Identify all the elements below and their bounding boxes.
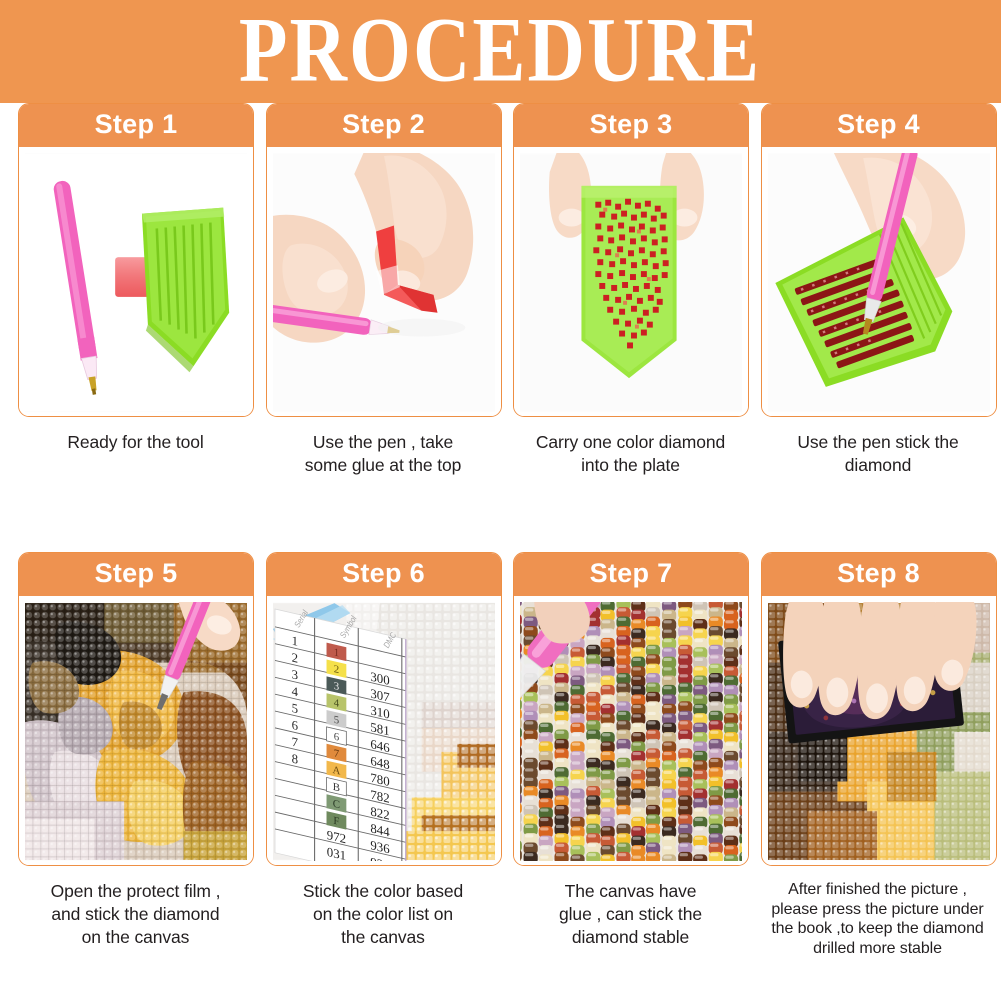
svg-text:6: 6 xyxy=(291,717,298,733)
svg-text:B: B xyxy=(332,781,339,795)
step-header-2: Step 2 xyxy=(267,104,501,147)
step-caption-7: The canvas have glue , can stick the dia… xyxy=(507,880,754,949)
step-body-8 xyxy=(762,596,996,866)
svg-text:7: 7 xyxy=(291,734,298,750)
step-badge-6: Step 6 xyxy=(342,558,425,589)
svg-text:1: 1 xyxy=(291,633,297,649)
photo-tray-with-red-diamonds xyxy=(520,153,742,412)
caption-line: please press the picture under xyxy=(752,900,1001,920)
caption-line: diamond stable xyxy=(507,926,754,949)
step-card-4[interactable]: Step 4 xyxy=(761,103,997,417)
svg-text:4: 4 xyxy=(333,697,339,710)
caption-line: Carry one color diamond xyxy=(507,431,754,454)
caption-line: the book ,to keep the diamond xyxy=(752,919,1001,939)
caption-line: After finished the picture , xyxy=(752,880,1001,900)
step-body-2 xyxy=(267,147,501,417)
step-cell-8: Step 8 xyxy=(761,552,997,958)
step-header-8: Step 8 xyxy=(762,553,996,596)
svg-text:2: 2 xyxy=(333,663,338,676)
step-caption-5: Open the protect film , and stick the di… xyxy=(12,880,259,949)
step-badge-5: Step 5 xyxy=(95,558,178,589)
step-cell-5: Step 5 xyxy=(18,552,254,949)
caption-line: Open the protect film , xyxy=(12,880,259,903)
step-header-1: Step 1 xyxy=(19,104,253,147)
step-cell-7: Step 7 xyxy=(513,552,749,949)
step-header-3: Step 3 xyxy=(514,104,748,147)
step-card-6[interactable]: Step 6 xyxy=(266,552,502,866)
step-card-7[interactable]: Step 7 xyxy=(513,552,749,866)
svg-text:7: 7 xyxy=(333,747,339,760)
steps-row-bottom: Step 5 xyxy=(0,552,1001,1001)
step-cell-2: Step 2 xyxy=(266,103,502,477)
step-caption-2: Use the pen , take some glue at the top xyxy=(260,431,507,477)
caption-line: Ready for the tool xyxy=(12,431,259,454)
step-header-6: Step 6 xyxy=(267,553,501,596)
photo-pen-dipping-glue xyxy=(273,153,495,412)
photo-tool-kit xyxy=(25,153,247,412)
step-body-3 xyxy=(514,147,748,417)
step-card-8[interactable]: Step 8 xyxy=(761,552,997,866)
caption-line: Use the pen stick the xyxy=(755,431,1001,454)
svg-text:C: C xyxy=(332,798,339,812)
steps-row-top: Step 1 xyxy=(0,103,1001,552)
svg-text:2: 2 xyxy=(291,650,297,666)
step-badge-7: Step 7 xyxy=(590,558,673,589)
svg-text:3: 3 xyxy=(291,666,298,682)
photo-dmc-color-chart: Serial Symbol DMC 123 456 78 xyxy=(273,602,495,861)
caption-line: on the canvas xyxy=(12,926,259,949)
photo-pressing-book-on-canvas xyxy=(768,602,990,861)
step-body-5 xyxy=(19,596,253,866)
page-header-banner: PROCEDURE xyxy=(0,0,1001,103)
step-card-5[interactable]: Step 5 xyxy=(18,552,254,866)
svg-text:1: 1 xyxy=(333,646,338,659)
step-cell-3: Step 3 xyxy=(513,103,749,477)
step-card-3[interactable]: Step 3 xyxy=(513,103,749,417)
caption-line: The canvas have xyxy=(507,880,754,903)
caption-line: drilled more stable xyxy=(752,939,1001,959)
photo-pen-picking-diamond xyxy=(768,153,990,412)
step-card-1[interactable]: Step 1 xyxy=(18,103,254,417)
page-title: PROCEDURE xyxy=(239,3,761,100)
step-header-5: Step 5 xyxy=(19,553,253,596)
step-header-4: Step 4 xyxy=(762,104,996,147)
steps-grid: Step 1 xyxy=(0,103,1001,1001)
step-caption-8: After finished the picture , please pres… xyxy=(752,880,1001,958)
svg-text:6: 6 xyxy=(333,731,339,744)
step-badge-3: Step 3 xyxy=(590,109,673,140)
caption-line: some glue at the top xyxy=(260,454,507,477)
step-cell-6: Step 6 xyxy=(266,552,502,949)
procedure-infographic: PROCEDURE Step 1 xyxy=(0,0,1001,1001)
step-badge-1: Step 1 xyxy=(95,109,178,140)
step-caption-1: Ready for the tool xyxy=(12,431,259,454)
step-cell-4: Step 4 xyxy=(761,103,997,477)
step-caption-3: Carry one color diamond into the plate xyxy=(507,431,754,477)
svg-text:5: 5 xyxy=(291,700,298,716)
step-badge-2: Step 2 xyxy=(342,109,425,140)
svg-text:4: 4 xyxy=(291,683,298,699)
caption-line: Use the pen , take xyxy=(260,431,507,454)
caption-line: on the color list on xyxy=(260,903,507,926)
caption-line: and stick the diamond xyxy=(12,903,259,926)
svg-text:8: 8 xyxy=(291,751,298,767)
step-caption-4: Use the pen stick the diamond xyxy=(755,431,1001,477)
step-caption-6: Stick the color based on the color list … xyxy=(260,880,507,949)
step-header-7: Step 7 xyxy=(514,553,748,596)
caption-line: glue , can stick the xyxy=(507,903,754,926)
step-card-2[interactable]: Step 2 xyxy=(266,103,502,417)
svg-text:F: F xyxy=(333,815,339,828)
caption-line: into the plate xyxy=(507,454,754,477)
caption-line: Stick the color based xyxy=(260,880,507,903)
caption-line: the canvas xyxy=(260,926,507,949)
photo-closeup-beads-pen xyxy=(520,602,742,861)
step-body-7 xyxy=(514,596,748,866)
step-badge-8: Step 8 xyxy=(837,558,920,589)
step-badge-4: Step 4 xyxy=(837,109,920,140)
caption-line: diamond xyxy=(755,454,1001,477)
step-body-1 xyxy=(19,147,253,417)
svg-text:5: 5 xyxy=(333,714,339,727)
step-cell-1: Step 1 xyxy=(18,103,254,454)
photo-sunflower-canvas-pen xyxy=(25,602,247,861)
step-body-6: Serial Symbol DMC 123 456 78 xyxy=(267,596,501,866)
step-body-4 xyxy=(762,147,996,417)
svg-text:3: 3 xyxy=(333,680,339,693)
svg-text:A: A xyxy=(332,764,340,778)
